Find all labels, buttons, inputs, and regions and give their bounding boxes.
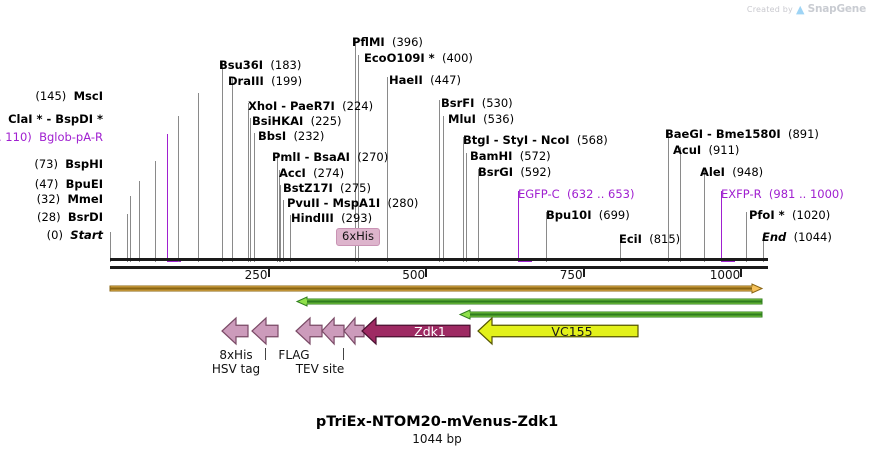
site-label-name: BaeGI - Bme1580I (665, 127, 781, 141)
site-label-position: (530) (482, 96, 513, 110)
site-label-bsrfi[interactable]: BsrFI (530) (441, 97, 513, 110)
site-label-position: (815) (649, 232, 680, 246)
site-label-position: (911) (709, 143, 740, 157)
site-label-bsrgi[interactable]: BsrGI (592) (478, 166, 551, 179)
ruler-label-1000: 1000 (710, 268, 741, 282)
site-label-position: (111) (0, 112, 1, 126)
leader-line-btgi_styi_ncoi (463, 137, 464, 262)
leader-line-mmei (130, 196, 131, 262)
site-label-name: MmeI (67, 192, 103, 206)
site-label-position: (183) (270, 58, 301, 72)
leader-line-egfpc (518, 191, 519, 262)
backbone-line-top (110, 258, 768, 261)
site-label-position: (400) (442, 51, 473, 65)
ruler-tick-250 (268, 269, 270, 277)
site-label-haeii[interactable]: HaeII (447) (389, 74, 461, 87)
page-title: pTriEx-NTOM20-mVenus-Zdk1 (0, 414, 874, 430)
snapgene-leaf-icon: ▲ (796, 4, 805, 15)
site-label-name: BpuEI (66, 177, 103, 191)
site-label-position: (1020) (792, 208, 830, 222)
site-label-name: BstZ17I (283, 181, 333, 195)
leader-line-bsu36i (222, 62, 223, 262)
site-label-position: (28) (37, 210, 61, 224)
site-label-egfpc[interactable]: EGFP-C (632 .. 653) (518, 188, 634, 201)
site-label-position: (396) (392, 35, 423, 49)
leader-line-bamhi (466, 153, 467, 262)
site-label-baegi_bme1580i[interactable]: BaeGI - Bme1580I (891) (665, 128, 819, 141)
leader-line-msci (198, 93, 199, 262)
ruler-label-250: 250 (245, 268, 268, 282)
leader-line-pfoi (746, 212, 747, 262)
site-label-position: (232) (293, 129, 324, 143)
site-label-position: (73) (34, 157, 58, 171)
site-label-position: (280) (387, 196, 418, 210)
site-label-bpuei[interactable]: (47) BpuEI (35, 178, 103, 191)
cap-hsvtag[interactable]: HSV tag (212, 362, 260, 376)
site-label-name: AcuI (673, 143, 701, 157)
site-label-clai_bspdi[interactable]: (111) ClaI * - BspDI * (0, 113, 103, 126)
site-label-name: AccI (279, 166, 306, 180)
site-label-acui[interactable]: AcuI (911) (673, 144, 739, 157)
cap-8xhis[interactable]: 8xHis (219, 348, 252, 362)
site-label-bamhi[interactable]: BamHI (572) (470, 150, 551, 163)
site-label-msci[interactable]: (145) MscI (35, 90, 103, 103)
leader-line-bpuei (139, 181, 140, 262)
site-label-position: (145) (35, 89, 66, 103)
caption-stem-1 (343, 348, 344, 360)
orf-track[interactable] (110, 284, 762, 293)
site-label-position: (91 .. 110) (0, 130, 32, 144)
site-label-name: PflMI (352, 35, 385, 49)
feature-zdk1[interactable]: Zdk1 (362, 318, 470, 344)
feature-vc155[interactable]: VC155 (478, 318, 638, 344)
site-label-name: BbsI (258, 129, 286, 143)
cap-tevsite[interactable]: TEV site (296, 362, 345, 376)
site-label-draiii[interactable]: DraIII (199) (228, 75, 302, 88)
site-label-xhoi_paer7i[interactable]: XhoI - PaeR7I (224) (248, 100, 373, 113)
site-label-position: (270) (357, 150, 388, 164)
site-label-name: HaeII (389, 73, 423, 87)
site-label-pfoi[interactable]: PfoI * (1020) (749, 209, 830, 222)
leader-line-bsihkai (250, 118, 251, 262)
site-label-name: PvuII - MspA1I (287, 196, 380, 210)
site-label-hindiii[interactable]: HindIII (293) (291, 212, 372, 225)
site-label-position: (572) (520, 149, 551, 163)
site-label-position: (224) (342, 99, 373, 113)
primer-track-upper[interactable] (297, 297, 762, 306)
site-label-name: BsrFI (441, 96, 474, 110)
site-label-name: PfoI * (749, 208, 785, 222)
site-label-name: BsiHKAI (252, 114, 303, 128)
ruler-tick-750 (583, 269, 585, 277)
site-label-name: Bpu10I (546, 208, 591, 222)
site-label-name: BamHI (470, 149, 512, 163)
feature-tag5[interactable] (344, 318, 364, 344)
leader-line-alei (704, 169, 705, 262)
site-label-alei[interactable]: AleI (948) (700, 166, 763, 179)
site-label-name: XhoI - PaeR7I (248, 99, 335, 113)
page-subtitle: 1044 bp (0, 432, 874, 446)
site-label-acci[interactable]: AccI (274) (279, 167, 344, 180)
site-label-pmli_bsaai[interactable]: PmlI - BsaAI (270) (272, 151, 388, 164)
site-label-end[interactable]: End (1044) (762, 231, 832, 244)
site-label-name: End (762, 230, 786, 244)
site-label-name: HindIII (291, 211, 334, 225)
site-label-position: (891) (788, 127, 819, 141)
leader-line-bglobpar (167, 134, 168, 262)
feature-tag1[interactable] (222, 318, 248, 344)
site-label-position: (225) (311, 114, 342, 128)
backbone-line-bottom (110, 266, 768, 269)
site-label-name: EGFP-C (518, 187, 560, 201)
site-label-position: (274) (313, 166, 344, 180)
ruler-label-750: 750 (560, 268, 583, 282)
site-label-name: EciI (619, 232, 642, 246)
site-label-name: Bsu36I (219, 58, 263, 72)
site-label-pvuii_mspa1i[interactable]: PvuII - MspA1I (280) (287, 197, 418, 210)
leader-line-mlui (443, 116, 444, 262)
site-label-position: (981 .. 1000) (769, 187, 844, 201)
leader-line-bbsi (254, 133, 255, 262)
leader-line-bsphi (155, 161, 156, 262)
site-label-name: ClaI * - BspDI * (8, 112, 103, 126)
plasmid-map-canvas: Created by ▲ SnapGene (0) Start(28) BsrD… (0, 0, 874, 453)
leader-line-haeii (387, 77, 388, 262)
site-label-position: (32) (37, 192, 61, 206)
site-label-position: (632 .. 653) (567, 187, 635, 201)
site-label-ecii[interactable]: EciI (815) (619, 233, 680, 246)
site-label-position: (592) (520, 165, 551, 179)
leader-line-pmli_bsaai (277, 154, 278, 262)
caption-stem-0 (265, 348, 266, 360)
site-label-name: Start (70, 228, 103, 242)
site-label-name: PmlI - BsaAI (272, 150, 350, 164)
leader-line-xhoi_paer7i (248, 103, 249, 262)
site-label-bsrdi[interactable]: (28) BsrDI (37, 211, 103, 224)
site-label-position: (1044) (794, 230, 832, 244)
site-label-name: EcoO109I * (364, 51, 435, 65)
leader-line-exfpr (721, 191, 722, 262)
site-label-position: (948) (732, 165, 763, 179)
site-label-btgi_styi_ncoi[interactable]: BtgI - StyI - NcoI (568) (463, 134, 608, 147)
site-label-bpu10i[interactable]: Bpu10I (699) (546, 209, 630, 222)
feature-tag3[interactable] (296, 318, 322, 344)
site-label-bglobpar[interactable]: (91 .. 110) Bglob-pA-R (0, 131, 103, 144)
site-label-ecoo109i[interactable]: EcoO109I * (400) (364, 52, 473, 65)
site-label-bsu36i[interactable]: Bsu36I (183) (219, 59, 301, 72)
site-label-name: MscI (74, 89, 103, 103)
feature-tag4[interactable] (322, 318, 344, 344)
ruler-tick-500 (425, 269, 427, 277)
site-label-position: (47) (35, 177, 59, 191)
feature-tag2[interactable] (252, 318, 278, 344)
site-label-position: (536) (483, 112, 514, 126)
site-label-bsphi[interactable]: (73) BspHI (34, 158, 103, 171)
leader-line-bstz17i (280, 185, 281, 262)
snapgene-watermark: Created by ▲ SnapGene (747, 3, 866, 15)
site-label-bbsi[interactable]: BbsI (232) (258, 130, 324, 143)
site-label-mlui[interactable]: MluI (536) (448, 113, 514, 126)
site-label-name: BsrDI (68, 210, 103, 224)
watermark-brand: SnapGene (808, 3, 866, 15)
leader-line-bsrfi (439, 100, 440, 262)
site-label-position: (0) (47, 228, 63, 242)
site-label-name: BtgI - StyI - NcoI (463, 133, 570, 147)
site-label-mmei[interactable]: (32) MmeI (37, 193, 103, 206)
site-label-name: DraIII (228, 74, 264, 88)
leader-line-draiii (232, 78, 233, 262)
site-label-bsihkai[interactable]: BsiHKAI (225) (252, 115, 342, 128)
callout-badge-6xhis[interactable]: 6xHis (336, 228, 380, 246)
cap-flag[interactable]: FLAG (278, 348, 309, 362)
site-label-start[interactable]: (0) Start (47, 229, 103, 242)
site-label-name: EXFP-R (721, 187, 762, 201)
leader-line-bsrgi (478, 169, 479, 262)
site-label-position: (568) (577, 133, 608, 147)
site-label-exfpr[interactable]: EXFP-R (981 .. 1000) (721, 188, 844, 201)
site-label-name: AleI (700, 165, 725, 179)
site-label-position: (699) (599, 208, 630, 222)
watermark-prefix: Created by (747, 5, 793, 14)
site-label-position: (199) (271, 74, 302, 88)
site-label-name: MluI (448, 112, 476, 126)
site-label-pflmi[interactable]: PflMI (396) (352, 36, 423, 49)
site-label-bstz17i[interactable]: BstZ17I (275) (283, 182, 371, 195)
leader-line-clai_bspdi (178, 116, 179, 262)
ruler-label-500: 500 (402, 268, 425, 282)
site-label-name: BspHI (65, 157, 103, 171)
leader-line-pvuii_mspa1i (283, 200, 284, 262)
site-label-name: BsrGI (478, 165, 513, 179)
ruler-tick-1000 (740, 269, 742, 277)
site-label-position: (447) (430, 73, 461, 87)
site-label-position: (275) (340, 181, 371, 195)
site-label-name: Bglob-pA-R (39, 130, 103, 144)
site-label-position: (293) (341, 211, 372, 225)
leader-line-bsrdi (127, 214, 128, 262)
